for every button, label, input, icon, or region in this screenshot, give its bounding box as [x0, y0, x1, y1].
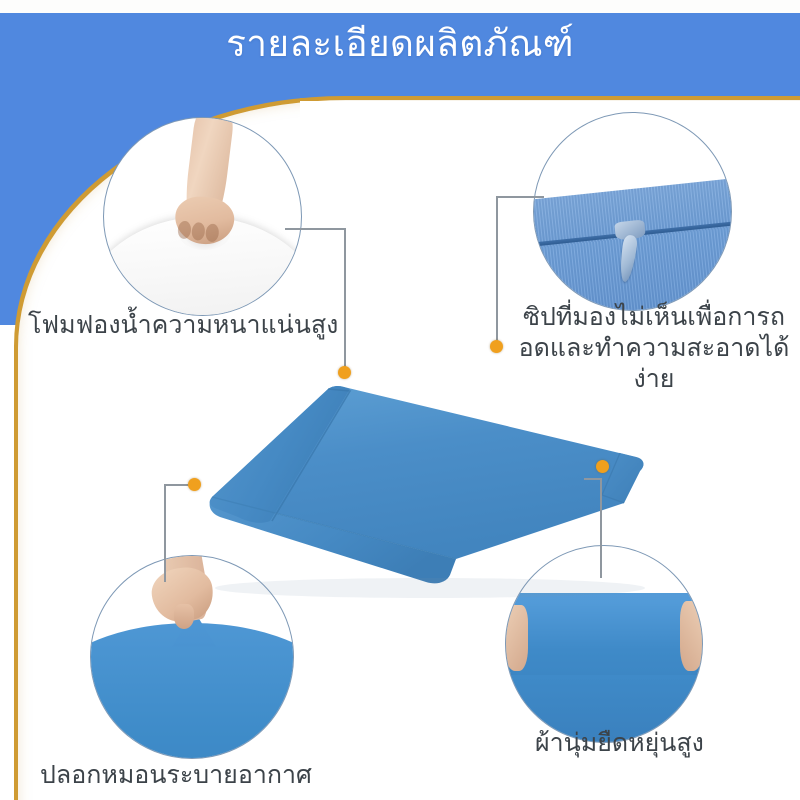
leader-line-zipper-horizontal	[496, 196, 544, 198]
callout-label-zipper-line-3: ง่าย	[634, 365, 675, 393]
marker-dot-cover[interactable]	[188, 478, 201, 491]
callout-label-foam: โฟมฟองน้ำความหนาแน่นสูง	[28, 310, 338, 341]
right-hand-icon	[680, 601, 703, 672]
callout-image-zipper	[533, 112, 732, 311]
callout-image-foam	[103, 117, 302, 316]
wedge-drop-shadow	[215, 578, 645, 598]
callout-label-soft-fabric: ผ้านุ่มยืดหยุ่นสูง	[535, 728, 704, 759]
left-hand-icon	[505, 605, 528, 672]
leader-line-zipper-vertical	[496, 196, 498, 346]
callout-label-zipper-line-2: อดและทำความสะอาดได้	[519, 334, 790, 362]
marker-dot-soft-fabric[interactable]	[596, 460, 609, 473]
callout-label-zipper-line-1: ซิปที่มองไม่เห็นเพื่อการถ	[523, 303, 785, 331]
leader-line-fabric-horizontal	[584, 478, 602, 480]
leader-line-foam-horizontal	[285, 228, 345, 230]
leader-line-foam-vertical	[344, 228, 346, 373]
callout-label-zipper: ซิปที่มองไม่เห็นเพื่อการถ อดและทำความสะอ…	[515, 302, 793, 395]
marker-dot-zipper[interactable]	[490, 340, 503, 353]
leader-line-cover-vertical	[164, 484, 166, 582]
leader-line-fabric-vertical	[600, 478, 602, 578]
product-detail-infographic: รายละเอียดผลิตภัณฑ์	[0, 0, 800, 800]
marker-dot-foam[interactable]	[338, 366, 351, 379]
callout-label-breathable-cover: ปลอกหมอนระบายอากาศ	[40, 760, 312, 791]
